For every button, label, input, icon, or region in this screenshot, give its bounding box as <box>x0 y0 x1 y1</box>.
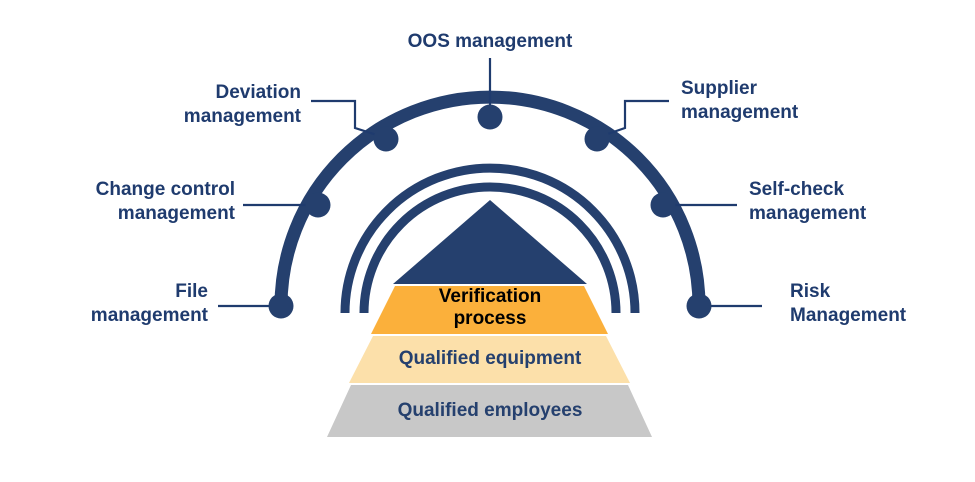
arc-label-file[interactable]: File management <box>10 280 208 328</box>
diagram-canvas <box>0 0 975 482</box>
arc-label-supplier[interactable]: Supplier management <box>681 77 941 125</box>
arc-label-oos[interactable]: OOS management <box>390 30 590 54</box>
diagram-root: OOS management Deviation management Chan… <box>0 0 975 482</box>
pyramid-tier-qualified-employees[interactable] <box>327 385 652 437</box>
node-self-check[interactable] <box>651 193 676 218</box>
arc-label-deviation[interactable]: Deviation management <box>61 81 301 129</box>
node-deviation[interactable] <box>374 127 399 152</box>
node-risk[interactable] <box>687 294 712 319</box>
node-oos[interactable] <box>478 105 503 130</box>
node-supplier[interactable] <box>585 127 610 152</box>
arc-label-self-check[interactable]: Self-check management <box>749 178 974 226</box>
pyramid-tier-apex[interactable] <box>393 200 587 284</box>
node-file[interactable] <box>269 294 294 319</box>
pyramid-tier-verification-process[interactable] <box>371 286 608 334</box>
pyramid-tier-qualified-equipment[interactable] <box>349 336 630 383</box>
arc-label-change-control[interactable]: Change control management <box>3 178 235 226</box>
node-change-control[interactable] <box>306 193 331 218</box>
arc-label-risk[interactable]: Risk Management <box>790 280 975 328</box>
